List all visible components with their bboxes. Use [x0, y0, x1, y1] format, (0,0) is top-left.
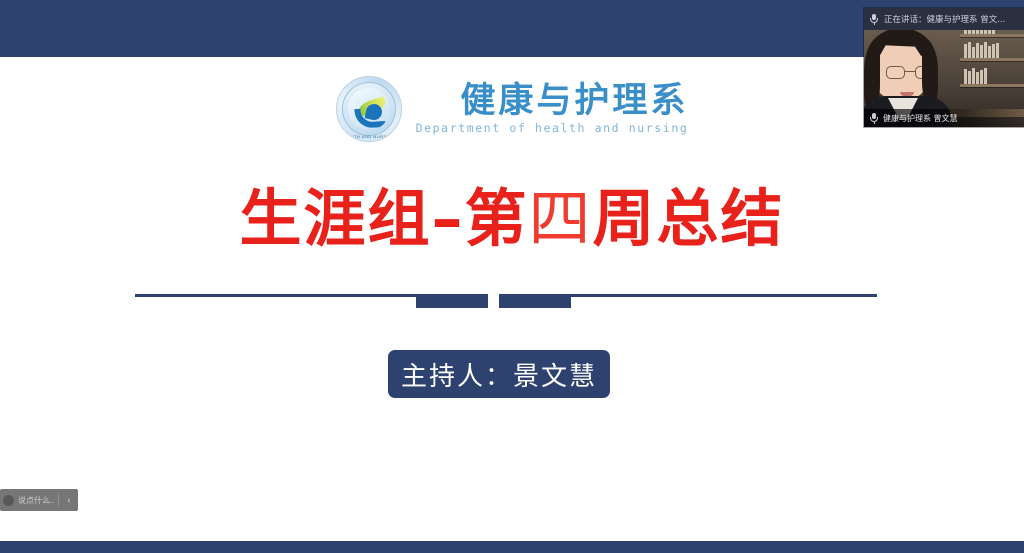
- logo-english-name: Department of health and nursing: [416, 121, 689, 135]
- logo-chinese-name: 健康与护理系: [460, 83, 688, 120]
- slide-title-part-3: 周总结: [593, 182, 785, 255]
- slide-title: 生涯组–第四周总结: [0, 168, 1024, 258]
- microphone-icon: [870, 113, 878, 124]
- chat-input-placeholder[interactable]: 说点什么...: [18, 495, 54, 506]
- emblem-inner: [348, 88, 390, 130]
- chat-bar-divider: [58, 494, 59, 506]
- speaking-banner-text: 正在讲话：健康与护理系 曾文...: [884, 13, 1005, 25]
- chat-input-bar[interactable]: 说点什么... ‹: [0, 489, 78, 511]
- slide-bottom-band: [0, 541, 1024, 553]
- chevron-left-icon[interactable]: ‹: [63, 496, 75, 505]
- host-name-label: 主持人：景文慧: [401, 356, 597, 393]
- slide-title-part-1: 生涯组–第: [239, 182, 528, 255]
- participant-name-bar: 健康与护理系 曾文慧: [864, 109, 1024, 127]
- bookshelf-board-1: [960, 34, 1024, 37]
- speaking-banner: 正在讲话：健康与护理系 曾文...: [864, 8, 1024, 30]
- emblem-arc-text: HEALTH AND NURSING: [337, 134, 401, 139]
- logo-text-block: 健康与护理系 Department of health and nursing: [416, 83, 689, 136]
- speaker-video-panel[interactable]: 正在讲话：健康与护理系 曾文...: [864, 8, 1024, 127]
- bookshelf-board-2: [960, 58, 1024, 61]
- slide-title-part-2: 四: [528, 182, 592, 255]
- microphone-icon: [870, 14, 878, 25]
- books-row-1: [964, 30, 995, 34]
- divider-center-gap: [488, 290, 499, 298]
- books-row-2: [964, 42, 999, 58]
- host-name-box: 主持人：景文慧: [388, 350, 610, 398]
- department-emblem-icon: HEALTH AND NURSING: [336, 76, 402, 142]
- participant-name-label: 健康与护理系 曾文慧: [883, 113, 958, 124]
- user-avatar-icon: [3, 495, 14, 506]
- divider-block-left: [416, 295, 488, 308]
- bookshelf-board-3: [960, 84, 1024, 87]
- divider-block-right: [499, 295, 571, 308]
- books-row-3: [964, 68, 987, 84]
- meeting-screen: HEALTH AND NURSING 健康与护理系 Department of …: [0, 0, 1024, 553]
